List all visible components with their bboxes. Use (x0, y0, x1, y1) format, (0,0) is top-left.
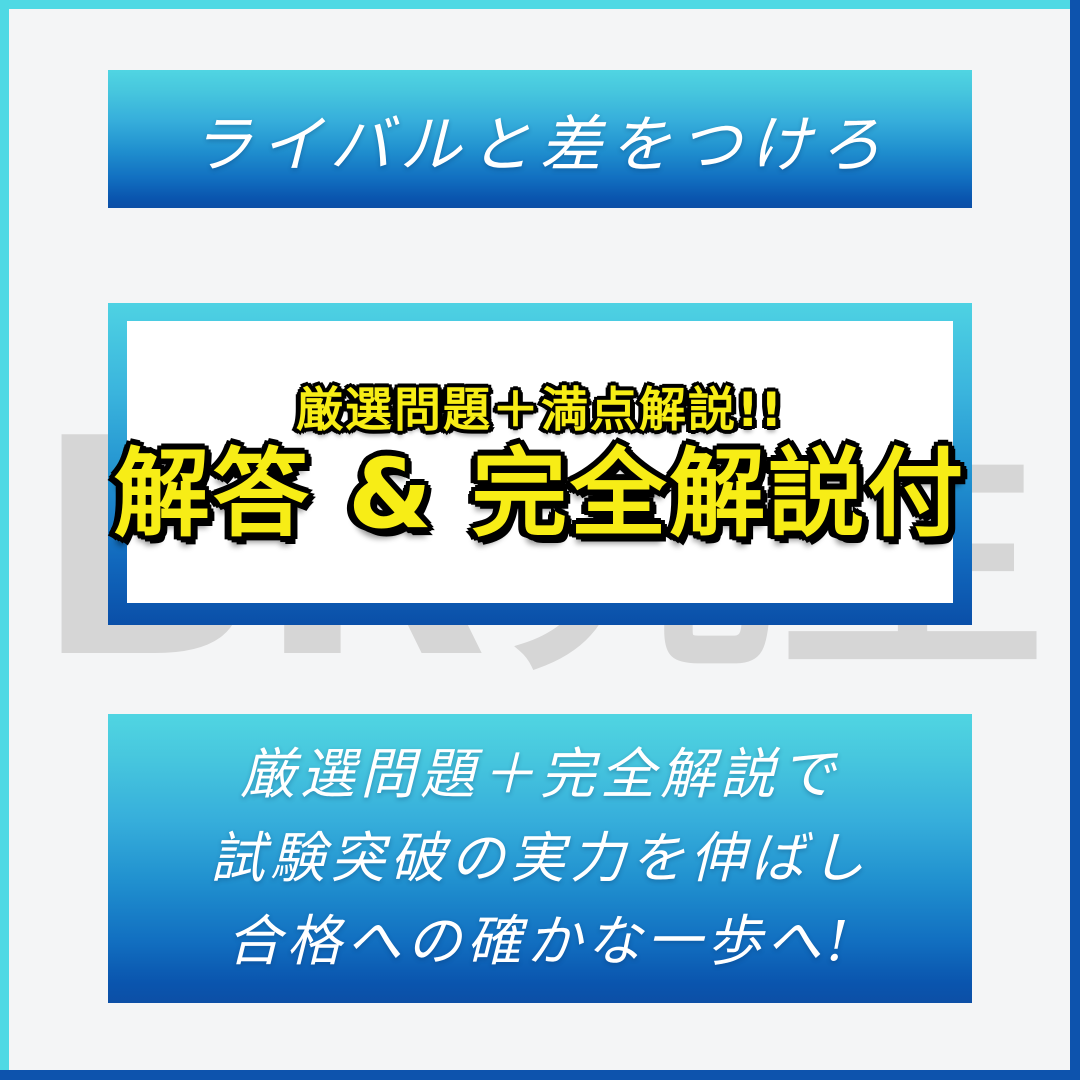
bottom-banner: 厳選問題＋完全解説で 試験突破の実力を伸ばし 合格への確かな一歩へ! (108, 714, 972, 1003)
feature-card-subtitle: 厳選問題＋満点解説!! (296, 387, 784, 434)
bottom-banner-line-2: 試験突破の実力を伸ばし (210, 822, 870, 896)
promo-poster: BR 先生 ライバルと差をつけろ 厳選問題＋満点解説!! 解答 & 完全解説付 … (0, 0, 1080, 1080)
top-banner: ライバルと差をつけろ (108, 70, 972, 208)
bottom-banner-line-3: 合格への確かな一歩へ! (226, 905, 853, 979)
frame-edge-left (0, 0, 9, 1080)
feature-card-inner: 厳選問題＋満点解説!! 解答 & 完全解説付 (127, 321, 953, 603)
frame-edge-right (1070, 0, 1080, 1080)
feature-card: 厳選問題＋満点解説!! 解答 & 完全解説付 (108, 303, 972, 625)
bottom-banner-line-1: 厳選問題＋完全解説で (240, 738, 840, 812)
frame-edge-top (0, 0, 1080, 9)
feature-card-headline: 解答 & 完全解説付 (114, 446, 967, 542)
frame-edge-bottom (0, 1070, 1080, 1080)
top-banner-headline: ライバルと差をつけろ (191, 94, 890, 184)
